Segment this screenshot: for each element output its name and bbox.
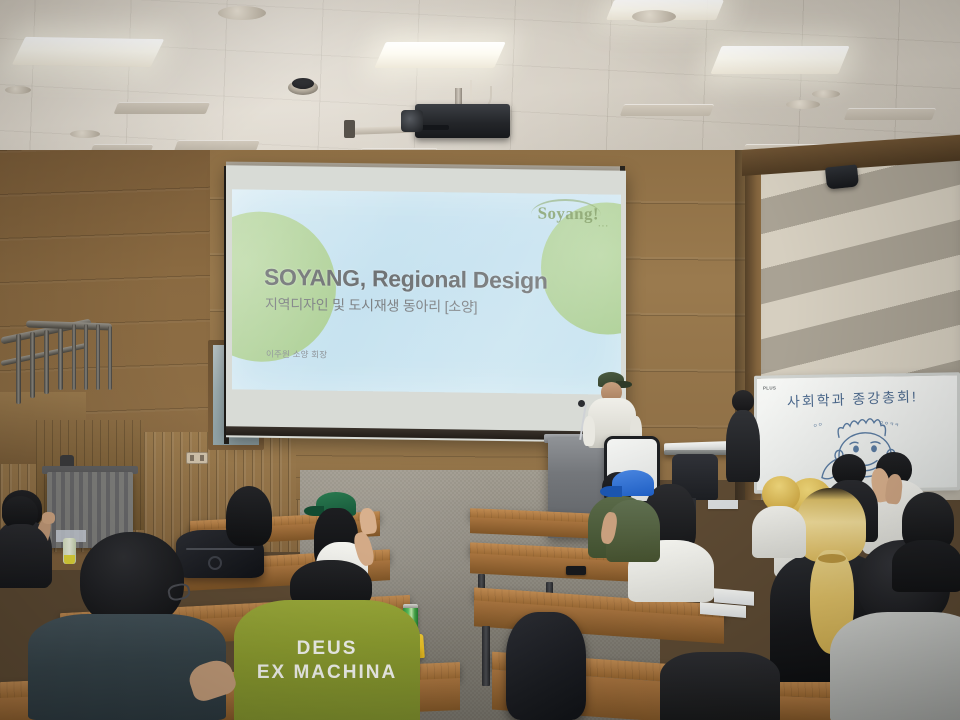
student-blue-cap [608, 470, 662, 566]
ceiling-vent [114, 102, 211, 114]
smoke-detector-icon [632, 10, 676, 23]
microphone-icon [578, 400, 585, 407]
ceiling-light-panel [374, 42, 506, 68]
slide-logo: Soyang! ··· [538, 204, 599, 225]
stair-rail-post [84, 324, 88, 390]
slide-presenter-name: 이주원 소양 회장 [266, 348, 327, 361]
student-teal-polo [28, 532, 226, 720]
student-dark-far-right [898, 492, 960, 590]
presenter-arm [583, 416, 595, 446]
wall-speaker-icon [825, 164, 859, 189]
shirt-text-line2: EX MACHINA [242, 662, 412, 684]
student-far-left [0, 496, 52, 592]
desk-leg [482, 626, 490, 686]
student-foreground-right [660, 632, 780, 720]
hoodie-torso [830, 612, 960, 720]
stair-rail-post [44, 330, 49, 394]
logo-arc-icon [531, 198, 601, 215]
hands-clapping-icon [358, 507, 377, 535]
smoke-detector-icon [786, 100, 820, 109]
torso [892, 540, 960, 592]
ceiling-light-panel [710, 46, 849, 74]
whiteboard-handwriting: 사회학과 종강총회! [787, 386, 918, 412]
power-outlet-icon[interactable] [186, 452, 208, 464]
projector-mount-bracket [344, 120, 355, 138]
shirt-text-line1: DEUS [254, 638, 400, 660]
torso-green [234, 600, 420, 720]
student-blonde-far [756, 476, 804, 556]
hair-tie-icon [818, 554, 846, 563]
ceiling-vent [844, 108, 936, 120]
ceiling-speaker-icon [292, 78, 314, 89]
smoke-detector-icon [812, 90, 840, 98]
slide-subtitle: 지역디자인 및 도시재생 동아리 [소양] [265, 294, 477, 317]
slide-title: SOYANG, Regional Design [264, 264, 548, 295]
ceiling-vent [620, 104, 714, 116]
cap-brim [600, 486, 622, 497]
lecture-hall-photo: Soyang! ··· SOYANG, Regional Design 지역디자… [0, 0, 960, 720]
torso [660, 652, 780, 720]
torso [0, 524, 50, 588]
stair-rail-post [96, 324, 100, 390]
ceiling-light-panel [12, 37, 164, 67]
person-head [732, 390, 754, 412]
stair-rail-post [58, 328, 63, 390]
stair-rail-post [72, 324, 76, 390]
projector-lens-icon [401, 110, 423, 132]
person-body [726, 410, 760, 482]
person-at-whiteboard [726, 390, 760, 490]
smoke-detector-icon [218, 6, 266, 20]
torso [752, 506, 806, 558]
smartphone-icon[interactable] [566, 566, 586, 575]
student-green-tshirt: DEUS EX MACHINA [234, 560, 420, 720]
ceiling [0, 0, 960, 168]
stair-rail-post [108, 326, 112, 390]
whiteboard-brand-label: PLUS [763, 385, 776, 390]
stair-rail-post [16, 334, 21, 404]
smoke-detector-icon [70, 130, 100, 138]
backpack-icon[interactable] [506, 612, 586, 720]
presentation-slide: Soyang! ··· SOYANG, Regional Design 지역디자… [232, 189, 621, 394]
hair [226, 486, 272, 546]
logo-dots-icon: ··· [598, 221, 609, 230]
projector-icon [415, 104, 510, 138]
student-back-right [218, 486, 278, 560]
stair-rail-post [30, 332, 35, 398]
smoke-detector-icon [5, 86, 31, 94]
